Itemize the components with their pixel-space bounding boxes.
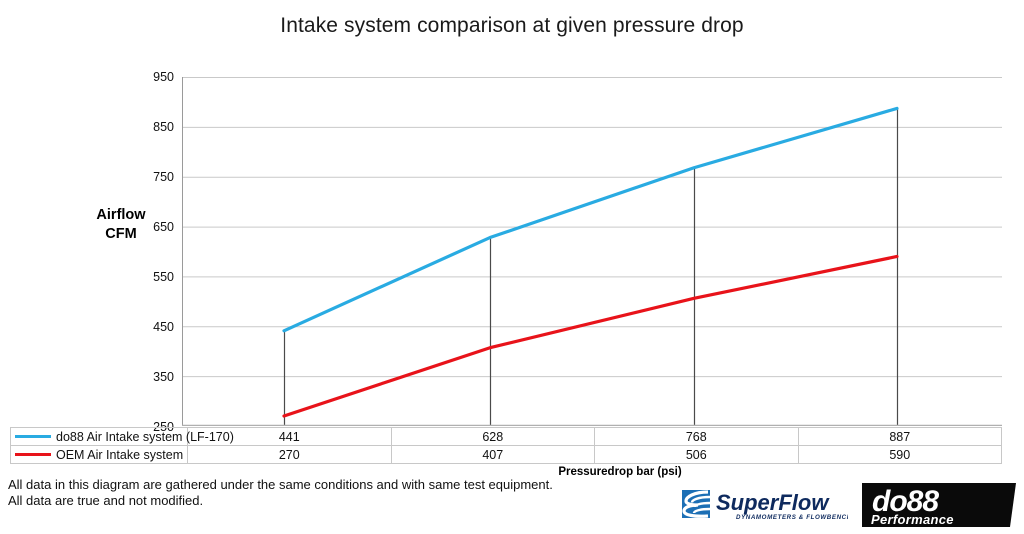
- data-table: do88 Air Intake system (LF-170) 441 628 …: [10, 427, 1002, 464]
- series-line-do88: [284, 108, 897, 330]
- footnote-line-2: All data are true and not modified.: [8, 493, 553, 509]
- superflow-wordmark: SuperFlow: [716, 490, 830, 515]
- footnote-line-1: All data in this diagram are gathered un…: [8, 477, 553, 493]
- cell-oem-3: 506: [595, 446, 799, 464]
- table-row: do88 Air Intake system (LF-170) 441 628 …: [11, 428, 1002, 446]
- y-tick-label-750: 750: [130, 170, 174, 184]
- do88-tagline: Performance: [871, 512, 954, 527]
- y-tick-label-450: 450: [130, 320, 174, 334]
- cell-do88-4: 887: [798, 428, 1002, 446]
- y-tick-label-850: 850: [130, 120, 174, 134]
- superflow-logo-svg: SuperFlow DYNAMOMETERS & FLOWBENCHES: [676, 482, 848, 526]
- legend-cell-series-0: do88 Air Intake system (LF-170): [11, 428, 188, 446]
- y-tick-label-350: 350: [130, 370, 174, 384]
- table-row: OEM Air Intake system 270 407 506 590: [11, 446, 1002, 464]
- y-tick-label-550: 550: [130, 270, 174, 284]
- do88-logo: do88 Performance: [858, 481, 1018, 529]
- line-chart-svg: [182, 77, 1002, 426]
- legend-swatch-do88: [15, 435, 51, 438]
- superflow-logo: SuperFlow DYNAMOMETERS & FLOWBENCHES: [676, 482, 848, 526]
- legend-label-oem: OEM Air Intake system: [56, 448, 183, 462]
- legend-cell-series-1: OEM Air Intake system: [11, 446, 188, 464]
- y-tick-label-650: 650: [130, 220, 174, 234]
- do88-logo-svg: do88 Performance: [858, 481, 1018, 529]
- cell-do88-2: 628: [391, 428, 595, 446]
- legend-swatch-oem: [15, 453, 51, 456]
- chart-page: Intake system comparison at given pressu…: [0, 0, 1024, 533]
- footnote: All data in this diagram are gathered un…: [8, 477, 553, 508]
- superflow-tagline: DYNAMOMETERS & FLOWBENCHES: [736, 514, 848, 521]
- superflow-mark-icon: [682, 490, 710, 518]
- y-tick-label-950: 950: [130, 70, 174, 84]
- cell-oem-1: 270: [188, 446, 392, 464]
- legend-label-do88: do88 Air Intake system (LF-170): [56, 430, 234, 444]
- series-line-oem: [284, 256, 897, 416]
- cell-oem-4: 590: [798, 446, 1002, 464]
- cell-do88-3: 768: [595, 428, 799, 446]
- chart-title: Intake system comparison at given pressu…: [0, 14, 1024, 38]
- cell-oem-2: 407: [391, 446, 595, 464]
- plot-area: [182, 77, 1002, 426]
